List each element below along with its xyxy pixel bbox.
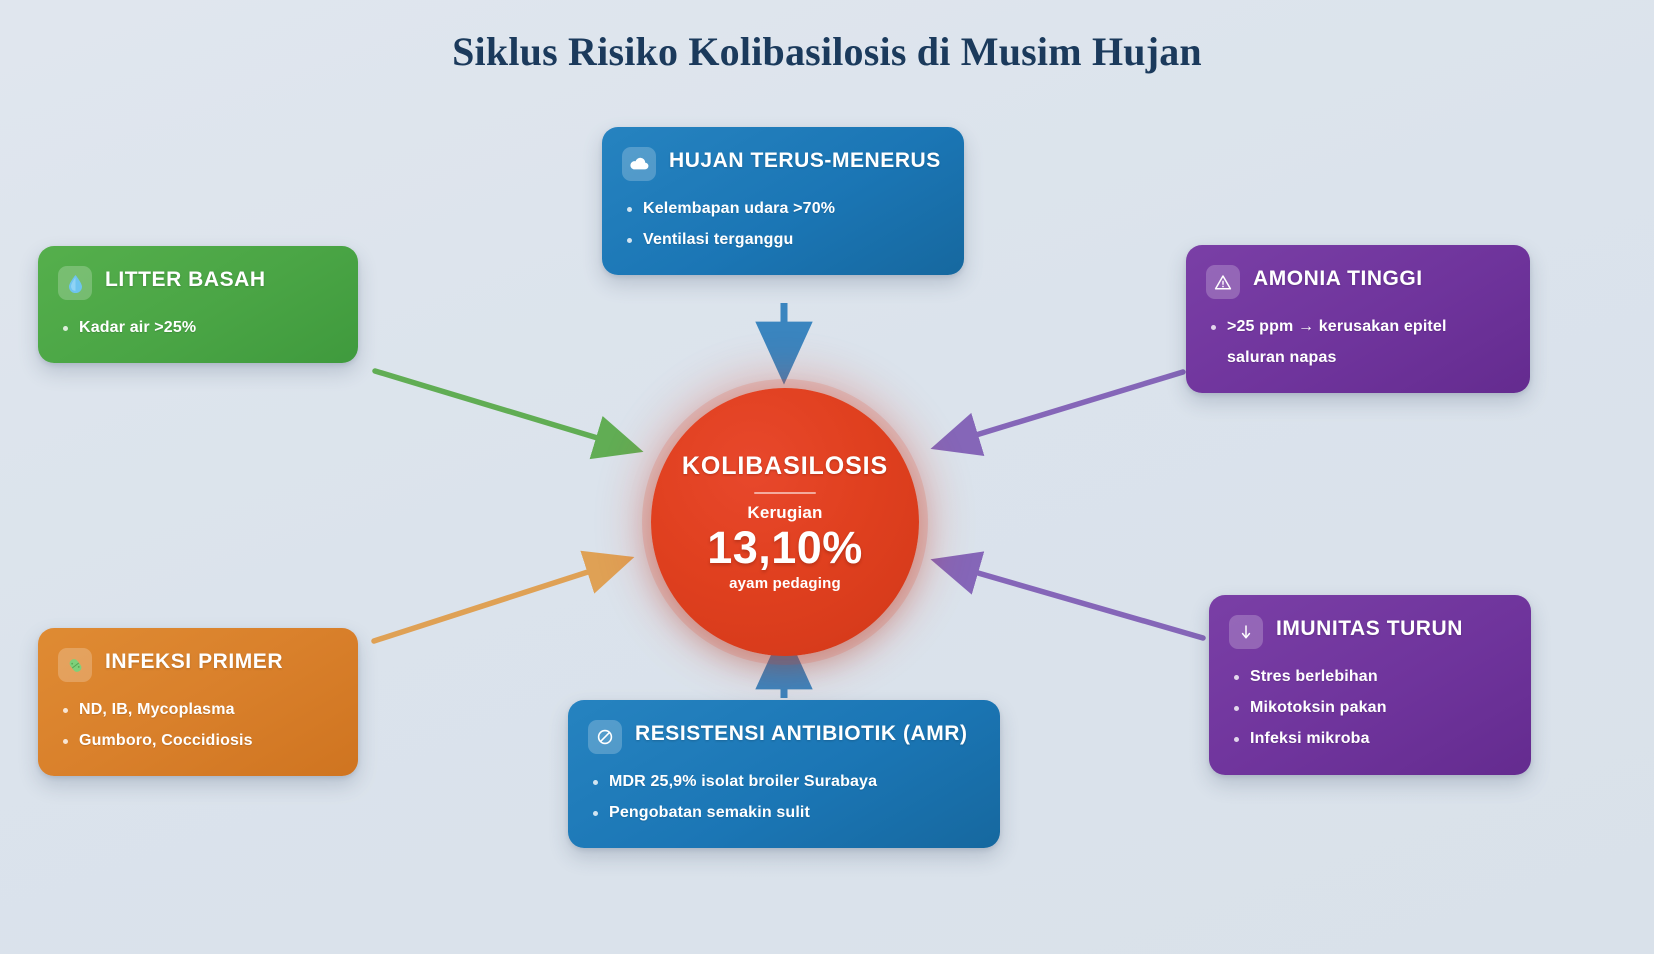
arrow-litter-to-center bbox=[375, 371, 634, 449]
infographic-canvas: Siklus Risiko Kolibasilosis di Musim Huj… bbox=[0, 0, 1654, 954]
card-amonia-tinggi[interactable]: AMONIA TINGGI >25 ppm → kerusakan epitel… bbox=[1186, 245, 1530, 393]
water-droplet-icon bbox=[58, 266, 92, 300]
prohibition-icon bbox=[588, 720, 622, 754]
card-bullet-list: MDR 25,9% isolat broiler Surabaya Pengob… bbox=[588, 766, 978, 828]
list-item: Mikotoksin pakan bbox=[1229, 692, 1509, 723]
card-header: HUJAN TERUS-MENERUS bbox=[622, 146, 942, 181]
card-title: HUJAN TERUS-MENERUS bbox=[669, 146, 941, 174]
water-droplet-glyph bbox=[67, 274, 84, 293]
card-title: RESISTENSI ANTIBIOTIK (AMR) bbox=[635, 719, 968, 747]
list-item: ND, IB, Mycoplasma bbox=[58, 694, 336, 725]
arrow-infeksi-to-center bbox=[374, 560, 625, 641]
list-item: >25 ppm → kerusakan epitel saluran napas bbox=[1206, 311, 1508, 373]
prohibition-glyph bbox=[596, 728, 614, 746]
warning-triangle-icon bbox=[1206, 265, 1240, 299]
cloud-icon bbox=[622, 147, 656, 181]
card-header: LITTER BASAH bbox=[58, 265, 336, 300]
center-node-kolibasilosis: KOLIBASILOSIS Kerugian 13,10% ayam pedag… bbox=[651, 388, 919, 656]
card-title: AMONIA TINGGI bbox=[1253, 264, 1423, 292]
arrow-amonia-to-center bbox=[940, 372, 1183, 446]
cloud-glyph bbox=[629, 157, 649, 171]
list-item: Gumboro, Coccidiosis bbox=[58, 725, 336, 756]
list-item: Ventilasi terganggu bbox=[622, 224, 942, 255]
card-bullet-list: Kelembapan udara >70% Ventilasi tergangg… bbox=[622, 193, 942, 255]
center-node-divider bbox=[754, 492, 816, 494]
list-item: Pengobatan semakin sulit bbox=[588, 797, 978, 828]
arrow-down-icon bbox=[1229, 615, 1263, 649]
center-node-note: ayam pedaging bbox=[729, 575, 841, 592]
microbe-icon bbox=[58, 648, 92, 682]
list-item: Kelembapan udara >70% bbox=[622, 193, 942, 224]
card-header: IMUNITAS TURUN bbox=[1229, 614, 1509, 649]
card-imunitas-turun[interactable]: IMUNITAS TURUN Stres berlebihan Mikotoks… bbox=[1209, 595, 1531, 775]
list-item: MDR 25,9% isolat broiler Surabaya bbox=[588, 766, 978, 797]
card-title: INFEKSI PRIMER bbox=[105, 647, 283, 675]
card-bullet-list: Stres berlebihan Mikotoksin pakan Infeks… bbox=[1229, 661, 1509, 755]
card-litter-basah[interactable]: LITTER BASAH Kadar air >25% bbox=[38, 246, 358, 363]
card-bullet-list: Kadar air >25% bbox=[58, 312, 336, 343]
card-header: INFEKSI PRIMER bbox=[58, 647, 336, 682]
card-title: IMUNITAS TURUN bbox=[1276, 614, 1463, 642]
card-infeksi-primer[interactable]: INFEKSI PRIMER ND, IB, Mycoplasma Gumbor… bbox=[38, 628, 358, 776]
card-bullet-list: ND, IB, Mycoplasma Gumboro, Coccidiosis bbox=[58, 694, 336, 756]
page-title: Siklus Risiko Kolibasilosis di Musim Huj… bbox=[0, 28, 1654, 75]
list-item: Infeksi mikroba bbox=[1229, 723, 1509, 754]
center-node-title: KOLIBASILOSIS bbox=[682, 452, 888, 481]
card-title: LITTER BASAH bbox=[105, 265, 266, 293]
card-resistensi-antibiotik[interactable]: RESISTENSI ANTIBIOTIK (AMR) MDR 25,9% is… bbox=[568, 700, 1000, 848]
list-item: Stres berlebihan bbox=[1229, 661, 1509, 692]
warning-triangle-glyph bbox=[1214, 274, 1232, 291]
microbe-glyph bbox=[66, 656, 85, 675]
card-header: AMONIA TINGGI bbox=[1206, 264, 1508, 299]
list-item: Kadar air >25% bbox=[58, 312, 336, 343]
card-bullet-list: >25 ppm → kerusakan epitel saluran napas bbox=[1206, 311, 1508, 373]
arrow-down-glyph bbox=[1239, 623, 1253, 641]
card-hujan-terus-menerus[interactable]: HUJAN TERUS-MENERUS Kelembapan udara >70… bbox=[602, 127, 964, 275]
arrow-imunitas-to-center bbox=[940, 562, 1203, 638]
card-header: RESISTENSI ANTIBIOTIK (AMR) bbox=[588, 719, 978, 754]
center-node-sublabel: Kerugian bbox=[747, 503, 822, 523]
center-node-value: 13,10% bbox=[707, 524, 863, 571]
